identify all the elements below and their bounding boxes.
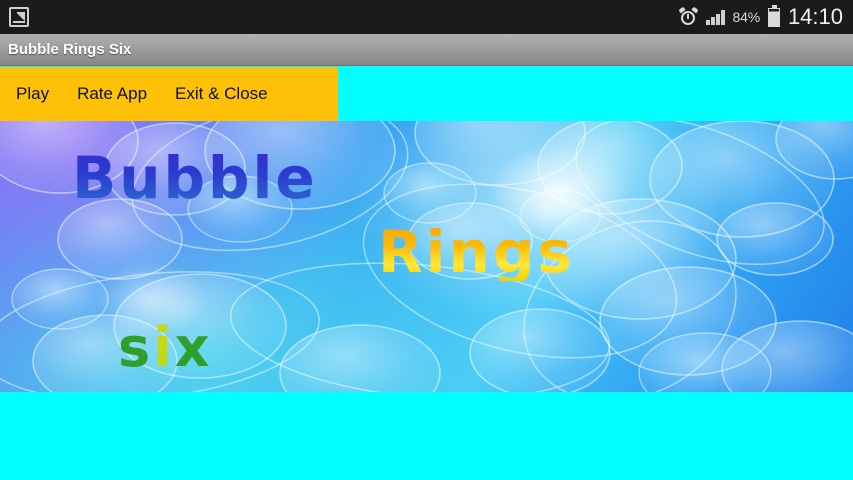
logo-word-six: six bbox=[118, 321, 213, 375]
menubar-background-fill bbox=[338, 67, 853, 121]
signal-bars-icon bbox=[706, 9, 725, 25]
app-screen: 84% 14:10 Bubble Rings Six Play Rate App… bbox=[0, 0, 853, 480]
logo-word-rings: Rings bbox=[378, 223, 575, 281]
logo-word-bubble: Bubble bbox=[72, 149, 318, 207]
alarm-clock-icon bbox=[679, 8, 698, 27]
status-bar-left bbox=[9, 7, 29, 27]
menu-item-exit-close[interactable]: Exit & Close bbox=[161, 67, 282, 121]
logo-letter-s: s bbox=[118, 316, 153, 379]
screenshot-image-icon bbox=[9, 7, 29, 27]
page-background bbox=[0, 392, 853, 480]
battery-percent-label: 84% bbox=[733, 9, 760, 25]
splash-banner: Bubble Rings six bbox=[0, 121, 853, 392]
logo-letter-x: x bbox=[175, 316, 213, 379]
app-title: Bubble Rings Six bbox=[0, 41, 131, 58]
status-bar: 84% 14:10 bbox=[0, 0, 853, 34]
logo-letter-i: i bbox=[153, 316, 175, 379]
menu-bar: Play Rate App Exit & Close bbox=[0, 67, 338, 121]
status-clock: 14:10 bbox=[788, 4, 843, 30]
title-bar: Bubble Rings Six bbox=[0, 34, 853, 66]
status-bar-right: 84% 14:10 bbox=[679, 4, 843, 30]
battery-icon bbox=[768, 8, 780, 27]
menu-item-play[interactable]: Play bbox=[0, 67, 63, 121]
menu-item-rate-app[interactable]: Rate App bbox=[63, 67, 161, 121]
